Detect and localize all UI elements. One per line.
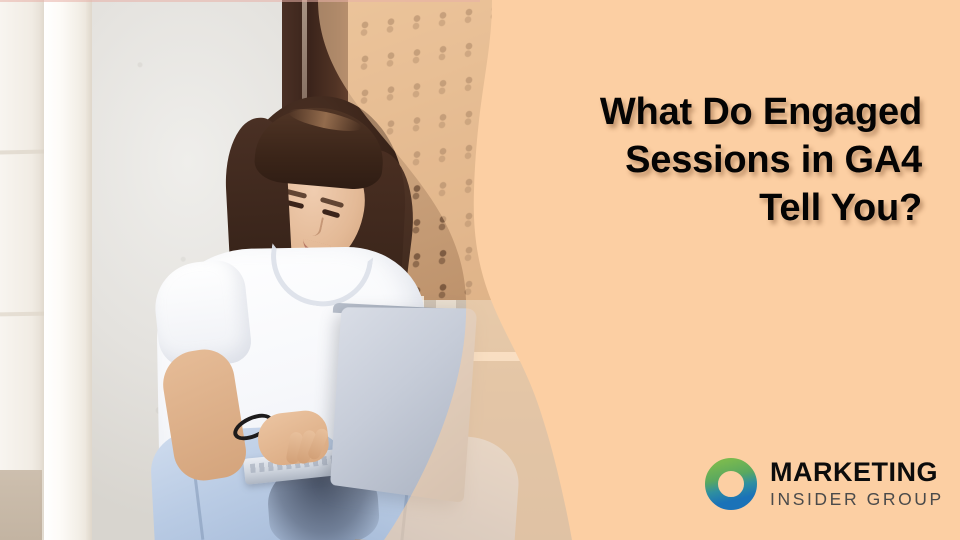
white-pillar	[44, 0, 92, 540]
title-line-1: What Do Engaged	[542, 88, 922, 136]
exterior-wall-surface	[0, 0, 45, 540]
page-title: What Do Engaged Sessions in GA4 Tell You…	[542, 88, 922, 232]
brand-logo[interactable]: MARKETING INSIDER GROUP	[705, 458, 944, 510]
logo-secondary-text: INSIDER GROUP	[770, 491, 944, 509]
top-hairline	[0, 0, 480, 2]
wall-seam-lower	[0, 312, 46, 317]
logo-primary-text: MARKETING	[770, 459, 944, 486]
wall-base-stone	[0, 470, 42, 540]
blog-featured-image-banner: What Do Engaged Sessions in GA4 Tell You…	[0, 0, 960, 540]
title-line-2: Sessions in GA4	[542, 136, 922, 184]
ring-icon	[705, 458, 757, 510]
title-line-3: Tell You?	[542, 184, 922, 232]
logo-wordmark: MARKETING INSIDER GROUP	[770, 459, 944, 509]
